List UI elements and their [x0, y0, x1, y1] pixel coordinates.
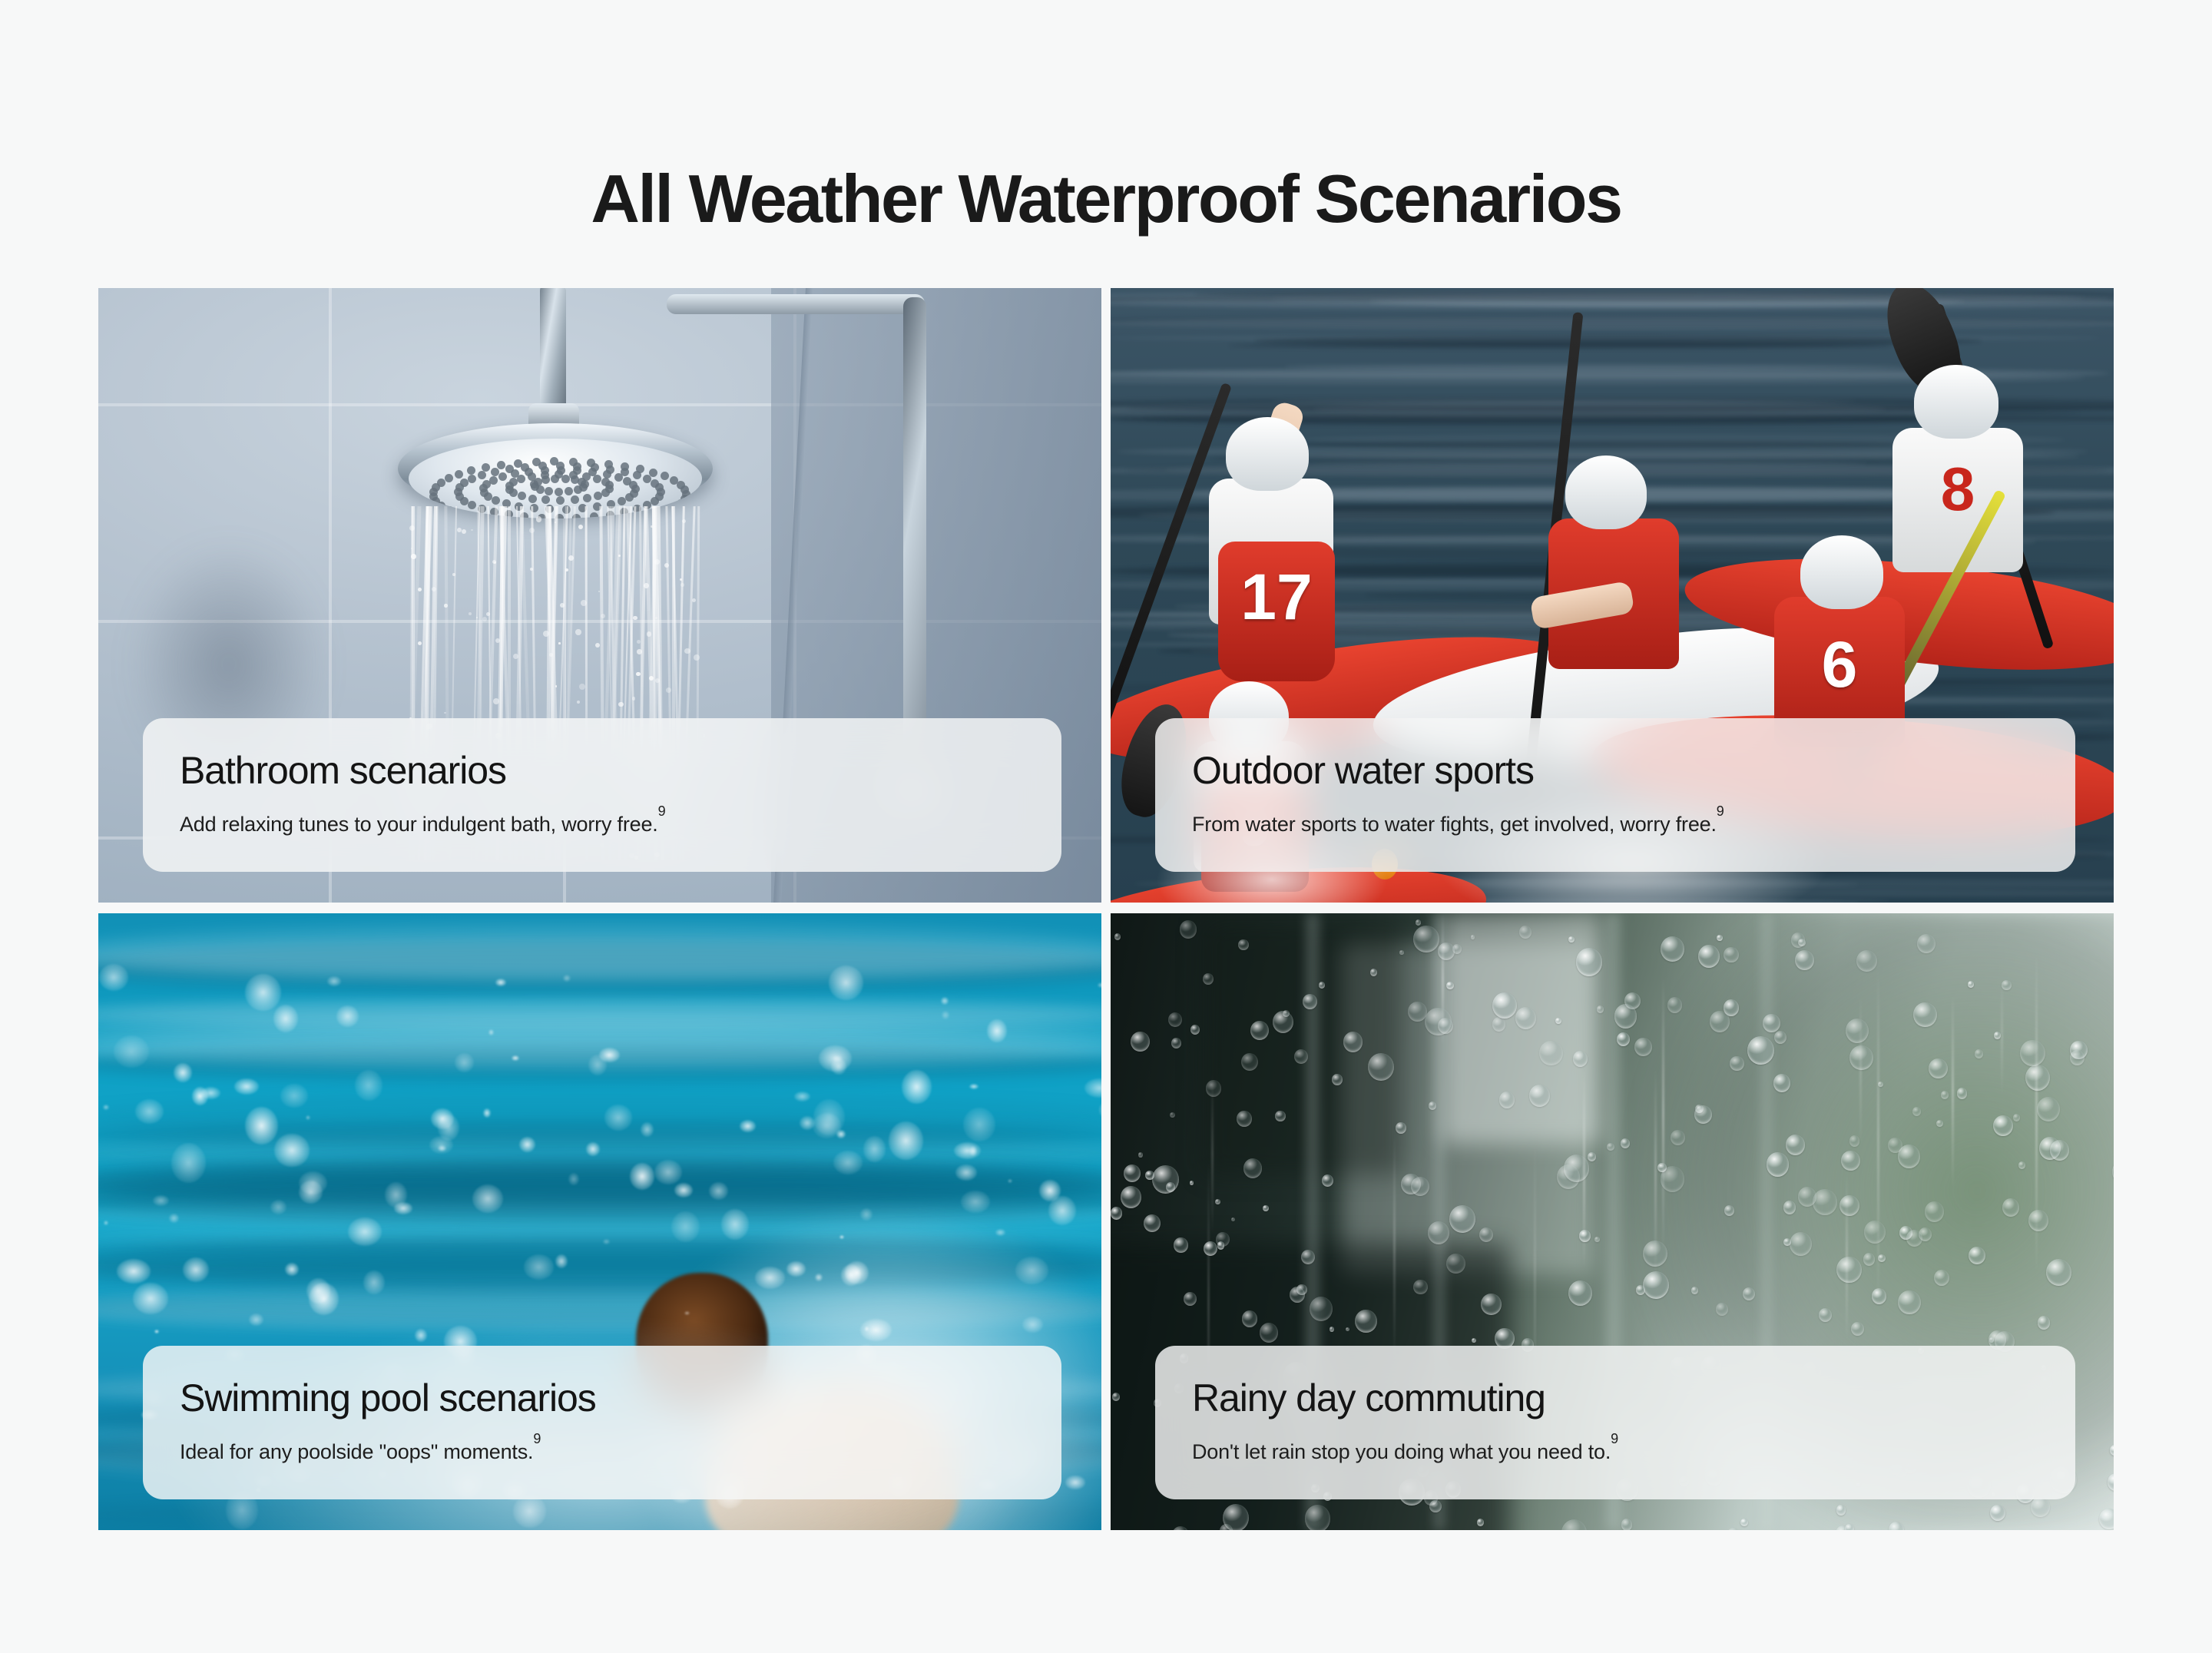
splash-decoration: [348, 1217, 382, 1246]
dp-decoration: [1416, 919, 1421, 926]
dp-decoration: [1836, 1505, 1846, 1515]
nz-decoration: [581, 480, 589, 489]
splash-decoration: [819, 1045, 851, 1072]
nz-decoration: [651, 497, 659, 505]
dp-decoration: [1730, 1056, 1743, 1072]
splash-decoration: [1039, 1180, 1061, 1201]
splash-decoration: [270, 1200, 286, 1214]
dp-decoration: [1724, 947, 1739, 963]
dp-decoration: [1370, 969, 1377, 976]
nz-decoration: [556, 496, 565, 505]
dp-decoration: [1898, 1145, 1920, 1168]
nz-decoration: [437, 479, 445, 487]
dp-decoration: [1114, 933, 1121, 940]
dp-decoration: [1481, 1294, 1502, 1316]
nz-decoration: [532, 458, 541, 466]
dp-decoration: [1969, 1247, 1985, 1264]
drop-decoration: [568, 555, 574, 561]
drop-decoration: [579, 684, 585, 690]
splash-decoration: [599, 1048, 620, 1062]
nz-decoration: [621, 462, 629, 471]
streak-decoration: [1211, 1073, 1214, 1235]
nz-decoration: [489, 476, 498, 485]
kayak-player-number: 8: [1892, 459, 2023, 520]
drop-decoration: [647, 631, 652, 637]
scenario-card-swimming-pool[interactable]: Swimming pool scenarios Ideal for any po…: [98, 913, 1101, 1530]
splash-decoration: [987, 1019, 1006, 1042]
splash-decoration: [363, 1270, 385, 1294]
drop-decoration: [684, 648, 690, 654]
nz-decoration: [467, 466, 475, 475]
splash-decoration: [117, 1259, 151, 1283]
dp-decoration: [1305, 1505, 1330, 1530]
nz-decoration: [497, 461, 505, 469]
dp-decoration: [1836, 1257, 1861, 1283]
dp-decoration: [2018, 1161, 2025, 1169]
nz-decoration: [569, 458, 578, 466]
dp-decoration: [1617, 1032, 1631, 1047]
wave d-decoration: [1253, 336, 1982, 346]
dp-decoration: [1263, 1205, 1269, 1211]
scenario-card-bathroom[interactable]: Bathroom scenarios Add relaxing tunes to…: [98, 288, 1101, 903]
dp-decoration: [1594, 1237, 1600, 1243]
wave-decoration: [1111, 317, 2114, 330]
drop-decoration: [601, 614, 605, 618]
splash-decoration: [1065, 1476, 1084, 1490]
dp-decoration: [1691, 1287, 1698, 1294]
drop-decoration: [694, 654, 700, 661]
dp-decoration: [1243, 1158, 1262, 1178]
splash-decoration: [1098, 982, 1101, 988]
nz-decoration: [478, 471, 486, 479]
dp-decoration: [1217, 1241, 1225, 1249]
splash-decoration: [513, 1495, 546, 1528]
drop-decoration: [536, 516, 541, 522]
splash-decoration: [306, 1115, 310, 1120]
footnote-marker: 9: [1717, 803, 1724, 819]
splash-decoration: [995, 1229, 1005, 1235]
dp-decoration: [1471, 935, 1475, 939]
splash-decoration: [863, 1136, 886, 1161]
drop-decoration: [462, 529, 467, 535]
footnote-marker: 9: [533, 1431, 541, 1446]
dp-decoration: [1568, 936, 1575, 943]
dp-decoration: [1184, 1292, 1197, 1306]
splash-decoration: [192, 1087, 209, 1105]
dp-decoration: [1223, 1504, 1249, 1530]
dp-decoration: [1138, 1152, 1144, 1158]
drop-decoration: [637, 649, 642, 654]
dp-decoration: [1783, 1238, 1790, 1246]
drop-decoration: [692, 598, 697, 603]
swimming-pool-card-subtitle: Ideal for any poolside "oops" moments.9: [180, 1438, 1025, 1466]
dp-decoration: [1849, 1135, 1860, 1147]
dp-decoration: [1936, 1120, 1943, 1127]
nz-decoration: [555, 488, 563, 496]
dp-decoration: [1661, 936, 1684, 962]
drop-decoration: [482, 617, 488, 622]
bathroom-card-subtitle: Add relaxing tunes to your indulgent bat…: [180, 810, 1025, 838]
drop-decoration: [633, 616, 637, 621]
splash-decoration: [99, 964, 128, 992]
dp-decoration: [1929, 1058, 1948, 1078]
wave d-decoration: [1111, 296, 2114, 302]
dp-decoration: [1144, 1214, 1161, 1233]
streak-decoration: [1393, 1132, 1396, 1362]
dp-decoration: [1330, 1327, 1334, 1332]
dp-decoration: [2099, 1509, 2114, 1529]
dp-decoration: [1747, 1036, 1774, 1065]
dp-decoration: [1588, 1152, 1596, 1161]
dp-decoration: [1898, 1290, 1921, 1315]
streak-decoration: [1952, 994, 1954, 1189]
streak-decoration: [1442, 913, 1444, 1046]
splash-decoration: [274, 1134, 310, 1168]
splash-decoration: [586, 1142, 601, 1155]
dp-decoration: [1698, 945, 1720, 968]
splash-decoration: [845, 1261, 868, 1284]
drop-decoration: [560, 603, 565, 608]
dp-decoration: [1555, 1018, 1561, 1024]
splash-decoration: [1015, 1257, 1048, 1284]
dp-decoration: [1396, 1122, 1406, 1133]
dp-decoration: [1438, 1018, 1453, 1034]
drop-decoration: [529, 528, 535, 533]
streak-decoration: [2035, 951, 2038, 1275]
dp-decoration: [1399, 950, 1403, 955]
dp-decoration: [1576, 948, 1603, 976]
drop-decoration: [618, 702, 623, 707]
waterproof-scenarios-page: All Weather Waterproof Scenarios: [0, 0, 2212, 1653]
streak-decoration: [1654, 1068, 1657, 1280]
dp-decoration: [1767, 1152, 1790, 1177]
band dk-decoration: [98, 1166, 1101, 1204]
splash-decoration: [455, 1053, 473, 1072]
drop-decoration: [664, 563, 669, 568]
dp-decoration: [1568, 1280, 1592, 1306]
nz-decoration: [601, 489, 610, 497]
dp-decoration: [1479, 1227, 1493, 1242]
splash-decoration: [280, 1084, 308, 1108]
splash-decoration: [245, 1107, 278, 1145]
outdoor-water-sports-card-subtitle: From water sports to water fights, get i…: [1192, 810, 2038, 838]
dp-decoration: [2037, 1097, 2060, 1121]
drop-decoration: [577, 701, 581, 704]
dp-decoration: [1798, 1187, 1816, 1207]
nz-decoration: [482, 463, 490, 472]
dp-decoration: [1717, 935, 1723, 941]
drop-decoration: [649, 676, 654, 681]
splash-decoration: [604, 1105, 633, 1131]
drop-decoration: [543, 631, 549, 637]
scenario-card-rainy-day-commuting[interactable]: Rainy day commuting Don't let rain stop …: [1111, 913, 2114, 1530]
dp-decoration: [1124, 1164, 1141, 1183]
drop-decoration: [409, 525, 415, 531]
dp-decoration: [1819, 1308, 1832, 1322]
dp-decoration: [1607, 1143, 1614, 1151]
nz-decoration: [661, 472, 669, 480]
drop-decoration: [655, 617, 657, 619]
dp-decoration: [1411, 1177, 1429, 1196]
splash-decoration: [860, 1208, 873, 1221]
nz-decoration: [528, 495, 537, 503]
splash-decoration: [568, 1173, 580, 1185]
splash-decoration: [171, 1143, 206, 1183]
dp-decoration: [1131, 1032, 1150, 1052]
splash-decoration: [299, 1181, 323, 1204]
splash-decoration: [355, 1070, 382, 1101]
splash-decoration: [941, 997, 949, 1005]
drop-decoration: [644, 583, 649, 588]
drop-decoration: [595, 643, 600, 648]
dp-decoration: [1636, 1285, 1645, 1295]
splash-decoration: [755, 1267, 785, 1289]
dp-decoration: [1667, 997, 1682, 1013]
dp-decoration: [1242, 1310, 1257, 1327]
drop-decoration: [581, 600, 587, 606]
splash-decoration: [902, 1070, 932, 1104]
dp-decoration: [1813, 1189, 1837, 1215]
drop-decoration: [575, 629, 581, 635]
nz-decoration: [468, 475, 476, 483]
splash-decoration: [273, 1005, 298, 1032]
nz-decoration: [636, 465, 644, 473]
dp-decoration: [1519, 926, 1532, 939]
dp-decoration: [1310, 1297, 1333, 1321]
dp-decoration: [1180, 920, 1197, 939]
scenario-card-outdoor-water-sports[interactable]: 17 8 6: [1111, 288, 2114, 903]
dp-decoration: [1241, 1053, 1258, 1071]
drop-decoration: [636, 672, 640, 676]
splash-decoration: [183, 1257, 209, 1282]
drop-decoration: [486, 612, 490, 616]
dp-decoration: [2028, 1210, 2049, 1231]
drop-decoration: [471, 529, 473, 532]
splash-decoration: [969, 1084, 979, 1089]
drop-decoration: [493, 698, 499, 704]
splash-decoration: [327, 976, 341, 986]
splash-decoration: [889, 1121, 923, 1160]
dp-decoration: [1429, 1101, 1436, 1110]
dp-decoration: [2020, 1040, 2045, 1067]
splash-decoration: [740, 1120, 757, 1132]
nz-decoration: [583, 494, 591, 502]
drop-decoration: [578, 525, 583, 529]
splash-decoration: [963, 1108, 995, 1141]
dp-decoration: [1190, 1181, 1194, 1184]
dp-decoration: [1774, 1031, 1786, 1044]
splash-decoration: [524, 1254, 554, 1280]
drop-decoration: [530, 568, 533, 571]
splash-decoration: [555, 1254, 568, 1268]
drop-decoration: [654, 559, 660, 565]
drop-decoration: [452, 573, 455, 576]
splash-decoration: [829, 966, 864, 1000]
drop-decoration: [680, 583, 684, 587]
drop-decoration: [469, 612, 472, 615]
dp-decoration: [1492, 1017, 1506, 1032]
dp-decoration: [1573, 1051, 1588, 1067]
nz-decoration: [625, 493, 634, 502]
drop-decoration: [513, 654, 518, 659]
kayak-player-number: 17: [1218, 565, 1335, 629]
splash-decoration: [603, 1239, 611, 1244]
dp-decoration: [1716, 1303, 1729, 1316]
dp-decoration: [1957, 1088, 1968, 1099]
streak-decoration: [1859, 995, 1862, 1145]
drop-decoration: [418, 588, 422, 591]
dp-decoration: [1168, 1012, 1182, 1027]
drop-decoration: [555, 685, 558, 687]
dp-decoration: [1529, 1085, 1551, 1107]
rainy-day-caption-card: Rainy day commuting Don't let rain stop …: [1155, 1346, 2075, 1499]
dp-decoration: [1413, 926, 1439, 952]
dp-decoration: [1250, 1021, 1269, 1040]
splash-decoration: [495, 979, 506, 986]
dp-decoration: [1492, 992, 1518, 1019]
dp-decoration: [1795, 950, 1814, 970]
nz-decoration: [604, 460, 613, 469]
nz-decoration: [514, 459, 522, 468]
dp-decoration: [1413, 1280, 1428, 1295]
nz-decoration: [455, 470, 463, 479]
dp-decoration: [1621, 1519, 1633, 1530]
nz-decoration: [565, 487, 573, 495]
page-title: All Weather Waterproof Scenarios: [0, 162, 2212, 237]
dp-decoration: [1783, 1201, 1796, 1214]
dp-decoration: [1237, 1111, 1252, 1127]
band-decoration: [98, 923, 1101, 977]
drop-decoration: [666, 687, 672, 694]
dp-decoration: [2002, 1198, 2020, 1217]
scenario-card-grid: Bathroom scenarios Add relaxing tunes to…: [98, 288, 2114, 1530]
splash-decoration: [954, 1142, 981, 1159]
streak-decoration: [1583, 1068, 1585, 1270]
splash-decoration: [431, 1108, 454, 1129]
drop-decoration: [682, 519, 686, 523]
footnote-marker: 9: [658, 803, 666, 819]
dp-decoration: [1260, 1323, 1279, 1343]
nz-decoration: [541, 495, 550, 504]
splash-decoration: [654, 1160, 683, 1184]
swimming-pool-card-title: Swimming pool scenarios: [180, 1378, 1025, 1419]
splash-decoration: [415, 1329, 427, 1342]
dp-decoration: [1446, 982, 1454, 989]
nz-decoration: [545, 487, 553, 495]
dp-decoration: [2046, 1259, 2071, 1286]
splash-decoration: [245, 974, 281, 1011]
nz-decoration: [518, 492, 526, 500]
nz-decoration: [571, 495, 579, 504]
nz-decoration: [649, 469, 657, 477]
dp-decoration: [1790, 1232, 1812, 1256]
dp-decoration: [2038, 1316, 2051, 1330]
rainy-day-card-subtitle: Don't let rain stop you doing what you n…: [1192, 1438, 2038, 1466]
dp-decoration: [1303, 994, 1317, 1009]
splash-decoration: [429, 1136, 454, 1154]
dp-decoration: [1925, 1201, 1945, 1222]
nz-decoration: [505, 465, 514, 473]
dp-decoration: [1539, 1041, 1563, 1066]
nz-decoration: [587, 459, 595, 467]
dp-decoration: [1170, 1112, 1175, 1118]
dp-decoration: [1941, 1091, 1949, 1099]
streak-decoration: [2001, 979, 2003, 1096]
splash-decoration: [1022, 1317, 1043, 1333]
splash-decoration: [721, 1209, 749, 1239]
band-decoration: [98, 1002, 1101, 1025]
splash-decoration: [1084, 1078, 1101, 1098]
dp-decoration: [1913, 1002, 1937, 1027]
splash-decoration: [674, 1183, 693, 1198]
rainy-day-card-title: Rainy day commuting: [1192, 1378, 2038, 1419]
footnote-marker: 9: [1611, 1431, 1618, 1446]
dp-decoration: [1856, 950, 1877, 972]
dp-decoration: [1429, 1500, 1441, 1512]
nz-decoration: [491, 468, 499, 476]
dp-decoration: [1695, 1105, 1704, 1113]
dp-decoration: [1863, 1253, 1875, 1265]
outdoor-water-sports-caption-card: Outdoor water sports From water sports t…: [1155, 718, 2075, 872]
splash-decoration: [104, 1221, 108, 1225]
dp-decoration: [1343, 1032, 1363, 1052]
dp-decoration: [1428, 1221, 1449, 1244]
dp-decoration: [1919, 1227, 1932, 1241]
dp-decoration: [1993, 1115, 2013, 1136]
bathroom-card-title: Bathroom scenarios: [180, 750, 1025, 791]
dp-decoration: [1934, 1270, 1949, 1286]
drop-decoration: [418, 641, 422, 645]
drop-decoration: [632, 697, 636, 701]
splash-decoration: [169, 1214, 180, 1223]
streak-decoration: [1877, 968, 1879, 1305]
dp-decoration: [1994, 1032, 2002, 1039]
dp-decoration: [1597, 1005, 1604, 1012]
dp-decoration: [1290, 1287, 1305, 1303]
dp-decoration: [1841, 1151, 1860, 1171]
drop-decoration: [444, 604, 447, 607]
splash-decoration: [563, 975, 571, 982]
dp-decoration: [1845, 1524, 1854, 1530]
splash-decoration: [174, 1063, 193, 1082]
splash-decoration: [472, 1184, 504, 1214]
nz-decoration: [492, 496, 500, 505]
dp-decoration: [1786, 1135, 1805, 1155]
outdoor-water-sports-card-title: Outdoor water sports: [1192, 750, 2038, 791]
splash-decoration: [955, 1164, 977, 1181]
splash-decoration: [306, 1278, 330, 1304]
dp-decoration: [2031, 1497, 2050, 1517]
dp-decoration: [1515, 1007, 1536, 1029]
nz-decoration: [445, 474, 453, 482]
dp-decoration: [1763, 1014, 1780, 1032]
swimming-pool-caption-card: Swimming pool scenarios Ideal for any po…: [143, 1346, 1061, 1499]
drop-decoration: [558, 642, 561, 644]
dp-decoration: [1166, 1182, 1176, 1192]
nz-decoration: [618, 497, 626, 505]
streak-decoration: [1846, 1174, 1848, 1341]
nz-decoration: [498, 472, 507, 481]
dp-decoration: [1355, 1310, 1377, 1333]
kayak-player-number: 6: [1774, 632, 1905, 697]
dp-decoration: [1152, 1165, 1179, 1194]
dp-decoration: [1975, 1049, 1983, 1058]
dp-decoration: [2050, 1140, 2069, 1161]
splash-decoration: [860, 1319, 892, 1341]
dp-decoration: [1174, 1237, 1187, 1252]
dp-decoration: [1614, 1004, 1637, 1028]
splash-decoration: [961, 1191, 990, 1214]
